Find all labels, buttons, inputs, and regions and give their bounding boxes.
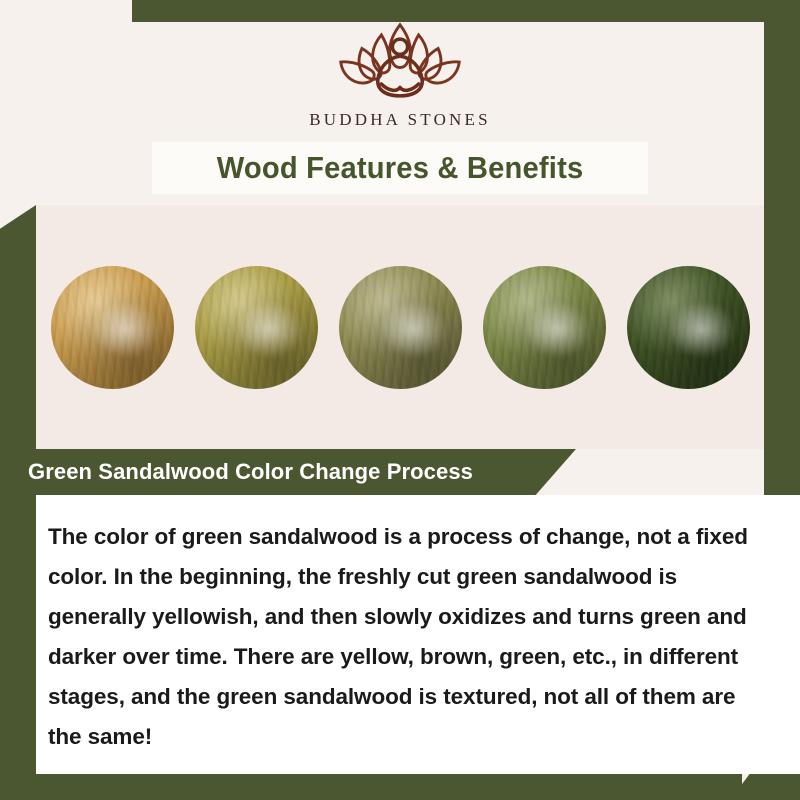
bead-stage-4-olive-green xyxy=(483,266,606,389)
brand-header: BUDDHA STONES xyxy=(0,0,800,145)
bead-stage-3-khaki-green xyxy=(339,266,462,389)
description-text: The color of green sandalwood is a proce… xyxy=(48,517,768,757)
bead-specular-highlight xyxy=(234,300,305,359)
bead-stage-2-yellow-green xyxy=(195,266,318,389)
bead-color-stages-row xyxy=(36,205,764,449)
section-banner: Green Sandalwood Color Change Process xyxy=(0,449,576,495)
bead-stage-5-dark-green xyxy=(627,266,750,389)
bead-specular-highlight xyxy=(522,300,593,359)
infographic-root: BUDDHA STONES Wood Features & Benefits xyxy=(0,0,800,800)
page-title: Wood Features & Benefits xyxy=(217,150,584,186)
description-panel: The color of green sandalwood is a proce… xyxy=(36,495,800,774)
bead-specular-highlight xyxy=(666,300,737,359)
frame-band-left xyxy=(0,205,36,800)
brand-name: BUDDHA STONES xyxy=(309,110,491,130)
bead-stage-1-golden-yellow xyxy=(51,266,174,389)
bead-specular-highlight xyxy=(90,300,161,359)
section-banner-label: Green Sandalwood Color Change Process xyxy=(28,459,473,485)
page-title-plate: Wood Features & Benefits xyxy=(152,142,648,194)
bead-specular-highlight xyxy=(378,300,449,359)
frame-band-bottom xyxy=(0,774,742,800)
lotus-meditation-logo-icon xyxy=(315,18,485,106)
